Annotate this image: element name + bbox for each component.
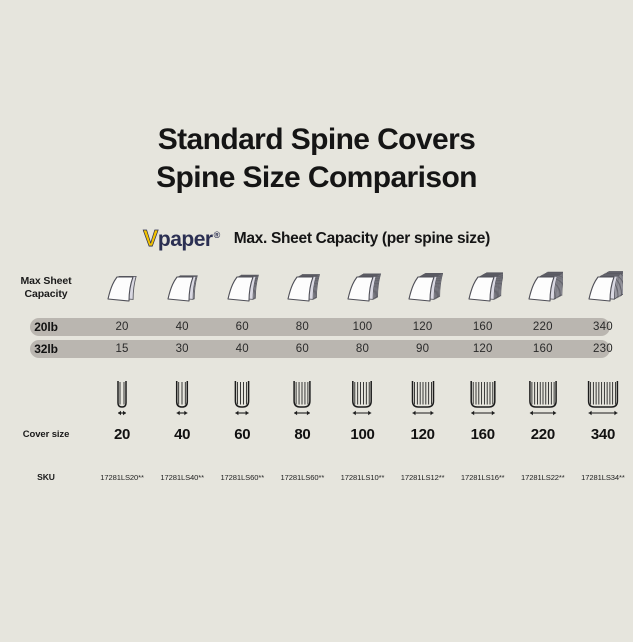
paper-stack-icon [453,264,513,314]
spine-width-icon [453,376,513,421]
paper-stack-icon [92,264,152,314]
cell-20lb: 220 [513,321,573,333]
page-title-line-1: Standard Spine Covers [0,121,633,159]
cell-32lb: 40 [212,343,272,355]
cell-32lb: 90 [393,343,453,355]
spine-width-icon [152,376,212,421]
registered-trademark-icon: ® [214,230,220,240]
spine-icon-cells [92,376,633,421]
cell-sku: 17281LS40** [152,473,212,482]
row-label-cover-size: Cover size [0,428,92,441]
cell-cover-size: 100 [332,426,392,443]
table-row-20lb: 20lb 20406080100120160220340 [0,318,633,336]
cell-20lb: 340 [573,321,633,333]
paper-stack-icon [573,264,633,314]
logo-v-icon: V [143,227,158,250]
cell-sku: 17281LS60** [212,473,272,482]
spine-width-icon [92,376,152,421]
cell-cover-size: 40 [152,426,212,443]
paper-stack-icon [332,264,392,314]
row-cells-32lb: 153040608090120160230 [92,343,633,355]
spine-comparison-table: Max Sheet Capacity 20lb 2040608010012016… [0,264,633,485]
table-row-32lb: 32lb 153040608090120160230 [0,340,633,358]
spine-width-icon [212,376,272,421]
spine-width-icon [393,376,453,421]
spine-width-icon [332,376,392,421]
cell-32lb: 15 [92,343,152,355]
brand-row: Vpaper® Max. Sheet Capacity (per spine s… [0,227,633,250]
cell-sku: 17281LS22** [513,473,573,482]
cell-32lb: 160 [513,343,573,355]
max-sheet-capacity-label-line-1: Max Sheet [0,275,92,288]
page-title: Standard Spine Covers Spine Size Compari… [0,0,633,197]
spine-width-icon [513,376,573,421]
cell-cover-size: 160 [453,426,513,443]
max-sheet-capacity-label: Max Sheet Capacity [0,275,92,303]
cell-sku: 17281LS10** [332,473,392,482]
logo-wordmark: paper [158,229,213,250]
paper-stack-icon [152,264,212,314]
row-label-20lb: 20lb [0,321,92,334]
cell-sku: 17281LS60** [272,473,332,482]
cell-32lb: 230 [573,343,633,355]
row-cells-cover-size: 20406080100120160220340 [92,426,633,443]
cell-cover-size: 80 [272,426,332,443]
spine-width-icon [272,376,332,421]
cell-32lb: 120 [453,343,513,355]
row-cells-sku: 17281LS20**17281LS40**17281LS60**17281LS… [92,473,633,482]
spine-icon-row [0,376,633,421]
paper-stack-icon [272,264,332,314]
row-label-sku: SKU [0,471,92,484]
cell-sku: 17281LS34** [573,473,633,482]
cell-cover-size: 60 [212,426,272,443]
page-title-line-2: Spine Size Comparison [0,159,633,197]
cell-cover-size: 220 [513,426,573,443]
cell-20lb: 40 [152,321,212,333]
cell-cover-size: 340 [573,426,633,443]
paper-stack-icon [513,264,573,314]
cell-20lb: 160 [453,321,513,333]
cell-20lb: 20 [92,321,152,333]
table-row-sku: SKU 17281LS20**17281LS40**17281LS60**172… [0,469,633,485]
cell-20lb: 100 [332,321,392,333]
section-subtitle: Max. Sheet Capacity (per spine size) [234,230,490,248]
cell-sku: 17281LS20** [92,473,152,482]
paper-stack-cells [92,264,633,314]
row-cells-20lb: 20406080100120160220340 [92,321,633,333]
table-row-cover-size: Cover size 20406080100120160220340 [0,424,633,444]
vpaper-logo: Vpaper® [143,227,220,250]
cell-32lb: 80 [332,343,392,355]
cell-sku: 17281LS12** [393,473,453,482]
paper-stack-icon [212,264,272,314]
cell-sku: 17281LS16** [453,473,513,482]
paper-stack-icon [393,264,453,314]
cell-20lb: 120 [393,321,453,333]
cell-cover-size: 120 [393,426,453,443]
cell-cover-size: 20 [92,426,152,443]
cell-32lb: 60 [272,343,332,355]
cell-20lb: 80 [272,321,332,333]
row-label-32lb: 32lb [0,343,92,356]
cell-32lb: 30 [152,343,212,355]
paper-stack-row: Max Sheet Capacity [0,264,633,314]
max-sheet-capacity-label-line-2: Capacity [0,288,92,301]
spine-width-icon [573,376,633,421]
cell-20lb: 60 [212,321,272,333]
